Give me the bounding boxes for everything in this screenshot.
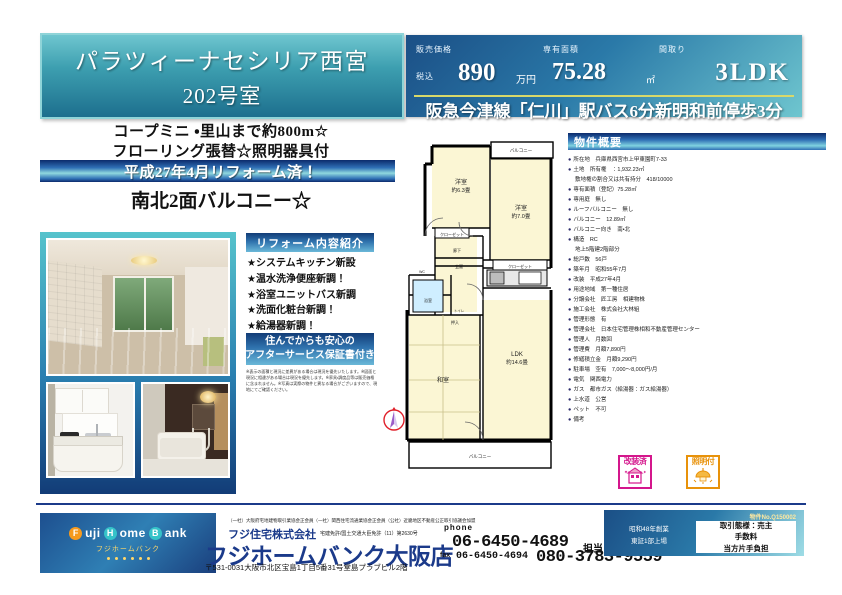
badge-renovated: 改装済 xyxy=(618,455,652,489)
overview-row: 改装 平成27年4月 xyxy=(568,275,830,285)
catch-copy: コープミニ ・里山まで約800m☆ フローリング張替☆照明器具付 xyxy=(40,122,402,163)
reform-heading-text: リフォーム内容紹介 xyxy=(256,235,364,251)
overview-row: 上水道 公営 xyxy=(568,395,830,405)
logo-wordmark: F uji H ome B ank xyxy=(69,526,187,540)
reform-banner-text: 平成27年4月リフォーム済！ xyxy=(124,161,318,182)
logo-subtitle: フジホームバンク xyxy=(96,544,160,554)
overview-row: 備考 xyxy=(568,415,830,425)
company-logo: F uji H ome B ank フジホームバンク xyxy=(40,513,216,573)
kitchen-base-cabinet xyxy=(53,445,123,473)
svg-text:約7.0畳: 約7.0畳 xyxy=(512,212,531,220)
overview-row: 分譲会社 匠工房 相建物株 xyxy=(568,295,830,305)
layout-value: 3LDK xyxy=(715,59,790,87)
listing-status: 東証1部上場 xyxy=(612,536,686,548)
plan-label-balcony-north: バルコニー xyxy=(510,148,533,153)
overview-row: 電気 関西電力 xyxy=(568,375,830,385)
afterservice-line-1: 住んでからも安心の xyxy=(265,335,355,350)
price-header: 販売価格 専有面積 間取り 税込 890 万円 75.28 ㎡ 3LDK 阪急今… xyxy=(406,35,802,117)
price-unit: 万円 xyxy=(516,71,536,86)
overview-row: 管理人 月数回 xyxy=(568,335,830,345)
plan-label-balcony-south: バルコニー xyxy=(469,454,492,459)
overview-row: 管理形態 有 xyxy=(568,315,830,325)
badge-lighting: 照明付 xyxy=(686,455,720,489)
afterservice-line-2: アフターサービス保証書付き xyxy=(245,349,375,364)
transaction-type: 取引態様：売主 xyxy=(720,520,773,531)
overview-row: 築年月 昭和55年7月 xyxy=(568,265,830,275)
overview-row: 敷地権の割合又は共有持分 418/10000 xyxy=(568,175,830,185)
overview-row: ガス 都市ガス（給湯器：ガス給湯器） xyxy=(568,385,830,395)
room-number: 202号室 xyxy=(183,80,262,110)
overview-row: 総戸数 56戸 xyxy=(568,255,830,265)
price-label: 販売価格 xyxy=(416,44,452,55)
afterservice-box: 住んでからも安心の アフターサービス保証書付き xyxy=(246,333,374,365)
overview-row: 施工会社 株式会社大林組 xyxy=(568,305,830,315)
logo-initial-h: H xyxy=(104,527,117,540)
plan-label-hallway: 廊下 xyxy=(453,247,461,253)
plan-label-bath: 浴室 xyxy=(424,297,432,303)
photo-kitchen xyxy=(46,382,135,478)
tax-included-label: 税込 xyxy=(416,71,434,82)
overview-row: ペット 不可 xyxy=(568,405,830,415)
logo-dots xyxy=(107,557,150,560)
floor-plan: 洋室 約6.3畳 洋室 約7.0畳 LDK 約14.6畳 和室 バルコニー バル… xyxy=(395,140,565,480)
reform-list-item: ★浴室ユニットバス新調 xyxy=(247,288,379,304)
kitchen-faucet xyxy=(96,424,98,435)
reform-list-item: ★温水洗浄便座新調！ xyxy=(247,272,379,288)
fax-label: fax xyxy=(440,552,450,559)
flyer-page: パラツィーナセシリア西宮 202号室 コープミニ ・里山まで約800m☆ フロー… xyxy=(0,0,842,595)
shop-address: 〒531-0031大阪市北区宝島1丁目5番31号堂島プラブビル2階 xyxy=(205,562,408,573)
plan-label-bedroom-1: 洋室 xyxy=(455,178,467,186)
overview-row: 修繕積立金 月額9,290円 xyxy=(568,355,830,365)
plan-label-toilet: トイレ xyxy=(454,309,465,313)
plan-label-bedroom-2: 洋室 xyxy=(515,204,527,212)
reform-list-item: ★システムキッチン新設 xyxy=(247,256,379,272)
fax-number: 06-6450-4694 xyxy=(456,551,528,562)
transaction-type-box: 取引態様：売主 手数料 当方片手負担 xyxy=(696,521,796,553)
logo-word-fuji: uji xyxy=(85,526,101,540)
photo-living-room xyxy=(46,238,230,376)
overview-row: 専有面積（登記）75.28㎡ xyxy=(568,185,830,195)
overview-row: 所在地 兵庫県西宮市上甲東園町7-33 xyxy=(568,155,830,165)
access-text: 阪急今津線「仁川」駅バス6分新明和前停歩3分 xyxy=(406,97,802,122)
overview-row: バルコニー向き 南・北 xyxy=(568,225,830,235)
balcony-highlight: 南北2面バルコニー☆ xyxy=(40,186,402,213)
renovated-house-icon xyxy=(624,467,646,485)
logo-word-home: ome xyxy=(120,526,146,540)
disclaimer-text: ※表示の面積と現況に差異がある場合は現況を優先いたします。※図面と現況に相違があ… xyxy=(246,369,378,393)
plan-label-closet-1: クローゼット xyxy=(440,231,464,237)
overview-row: 管理会社 日本住宅管理株相和不動産管理センター xyxy=(568,325,830,335)
area-unit: ㎡ xyxy=(646,73,655,86)
reform-section-heading: リフォーム内容紹介 xyxy=(246,233,374,252)
plan-label: 間取り xyxy=(659,44,686,55)
kitchen-upper-cabinet xyxy=(55,388,110,414)
company-heritage: 昭和48年創業 東証1部上場 xyxy=(612,524,686,549)
svg-text:約6.3畳: 約6.3畳 xyxy=(452,186,471,194)
logo-word-bank: ank xyxy=(165,526,187,540)
overview-row: 専用庭 無し xyxy=(568,195,830,205)
overview-row: 管理費 月額7,890円 xyxy=(568,345,830,355)
founded-year: 昭和48年創業 xyxy=(612,524,686,536)
photo-panel xyxy=(40,232,236,494)
plan-label-wc: WC xyxy=(419,270,425,274)
overview-row: 構造 RC xyxy=(568,235,830,245)
reform-banner: 平成27年4月リフォーム済！ xyxy=(40,160,402,182)
reform-list-item: ★洗面化粧台新調！ xyxy=(247,303,379,319)
badge-lighting-label: 照明付 xyxy=(692,458,715,466)
catch-line-1: コープミニ ・里山まで約800m☆ xyxy=(40,122,402,142)
svg-text:約14.6畳: 約14.6畳 xyxy=(506,358,528,366)
building-name: パラツィーナセシリア西宮 xyxy=(75,42,369,76)
overview-row: 駐車場 空有 7,000～8,000円/月 xyxy=(568,365,830,375)
bath-tub xyxy=(157,432,207,462)
transaction-info-box: 物件No.Q150002 昭和48年創業 東証1部上場 取引態様：売主 手数料 … xyxy=(604,510,804,556)
logo-initial-b: B xyxy=(149,527,162,540)
logo-initial-f: F xyxy=(69,527,82,540)
badge-renovated-label: 改装済 xyxy=(624,458,647,466)
plan-label-closet-2: クローゼット xyxy=(508,263,532,269)
bath-floor xyxy=(143,459,228,476)
bath-wood-panel xyxy=(214,393,228,450)
plan-label-washitsu: 和室 xyxy=(437,376,449,384)
compass-north-icon xyxy=(381,406,407,432)
building-title-box: パラツィーナセシリア西宮 202号室 xyxy=(40,33,404,119)
overview-row: 地上5階建2階部分 xyxy=(568,245,830,255)
commission-label: 手数料 xyxy=(735,531,758,542)
plan-label-entrance: 玄関 xyxy=(455,263,463,269)
overview-heading: 物件概要 xyxy=(568,133,826,150)
plan-label-oshiire: 押入 xyxy=(451,319,459,325)
photo-bathroom xyxy=(141,382,230,478)
association-line: （一社）大阪府宅地建物取引業協会正会員（一社）関西住宅流通業協会正会員（公社）近… xyxy=(228,518,578,524)
ceiling-light-icon xyxy=(692,467,714,485)
bath-mirror xyxy=(192,404,214,430)
overview-heading-text: 物件概要 xyxy=(574,134,622,150)
license-number: 宅建免許/国土交通大臣免許（11）第2630号 xyxy=(320,530,418,537)
overview-list: 所在地 兵庫県西宮市上甲東園町7-33土地 所有権 ：1,932.23㎡敷地権の… xyxy=(568,155,830,425)
photo-window xyxy=(113,276,175,332)
overview-row: バルコニー 12.89㎡ xyxy=(568,215,830,225)
photo-flooring xyxy=(48,328,228,374)
photo-row xyxy=(46,382,230,478)
phone-label: phone xyxy=(444,523,473,532)
price-value: 890 xyxy=(458,59,496,87)
photo-ceiling-light xyxy=(131,256,157,265)
footer-divider xyxy=(36,503,806,505)
overview-row: ルーフバルコニー 無し xyxy=(568,205,830,215)
overview-row: 土地 所有権 ：1,932.23㎡ xyxy=(568,165,830,175)
area-label: 専有面積 xyxy=(543,44,579,55)
commission-detail: 当方片手負担 xyxy=(724,543,769,554)
area-value: 75.28 xyxy=(552,59,606,86)
overview-row: 用途地域 第一種住居 xyxy=(568,285,830,295)
plan-label-ldk: LDK xyxy=(511,352,523,358)
